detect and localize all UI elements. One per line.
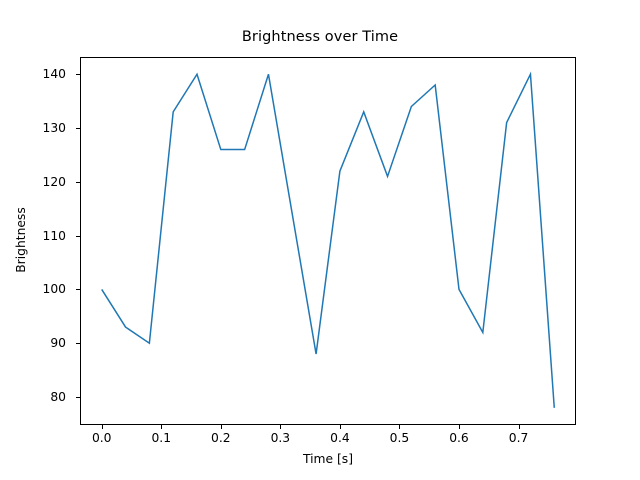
x-tick-label: 0.2 <box>211 431 231 445</box>
x-tick-mark <box>399 425 400 429</box>
y-tick-mark <box>76 74 80 75</box>
y-tick-label: 140 <box>0 67 72 81</box>
x-tick-mark <box>519 425 520 429</box>
data-series-line <box>80 57 576 425</box>
x-tick-label: 0.1 <box>151 431 171 445</box>
y-tick-mark <box>76 343 80 344</box>
y-tick-mark <box>76 397 80 398</box>
y-tick-label: 130 <box>0 121 72 135</box>
x-tick-label: 0.0 <box>92 431 112 445</box>
x-axis-tick-labels: 0.00.10.20.30.40.50.60.7 <box>80 431 576 451</box>
y-tick-label: 110 <box>0 229 72 243</box>
y-tick-label: 100 <box>0 282 72 296</box>
brightness-series-polyline <box>102 74 555 408</box>
y-tick-mark <box>76 236 80 237</box>
x-tick-label: 0.3 <box>271 431 291 445</box>
x-tick-mark <box>340 425 341 429</box>
x-tick-mark <box>161 425 162 429</box>
x-tick-mark <box>280 425 281 429</box>
x-tick-label: 0.7 <box>509 431 529 445</box>
y-axis-tick-labels: 8090100110120130140 <box>0 57 72 425</box>
x-tick-label: 0.4 <box>330 431 350 445</box>
y-tick-label: 80 <box>0 390 72 404</box>
x-tick-label: 0.6 <box>449 431 469 445</box>
matplotlib-figure: Brightness over Time Brightness Time [s]… <box>0 0 640 480</box>
y-tick-label: 120 <box>0 175 72 189</box>
y-tick-label: 90 <box>0 336 72 350</box>
x-tick-mark <box>102 425 103 429</box>
x-tick-mark <box>221 425 222 429</box>
plot-area <box>80 57 576 425</box>
y-tick-mark <box>76 128 80 129</box>
x-tick-label: 0.5 <box>390 431 410 445</box>
x-axis-label: Time [s] <box>80 452 576 466</box>
x-tick-mark <box>459 425 460 429</box>
y-tick-mark <box>76 289 80 290</box>
chart-title: Brightness over Time <box>0 29 640 45</box>
y-tick-mark <box>76 182 80 183</box>
